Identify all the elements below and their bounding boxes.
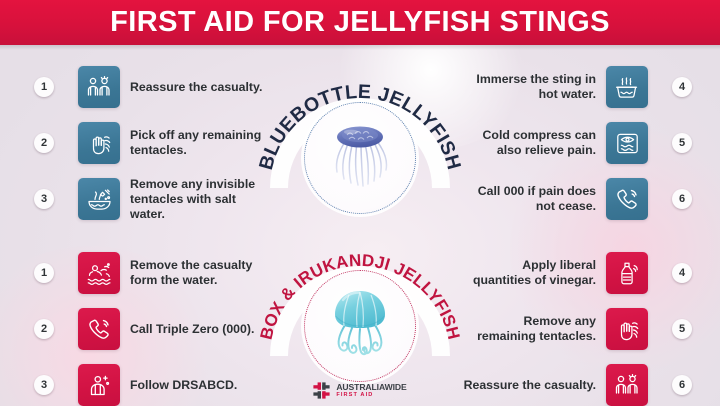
step-text: Cold compress can also relieve pain. [452,128,606,158]
step-number-badge: 6 [672,189,692,209]
step-number-badge: 1 [34,263,54,283]
step-number-badge: 4 [672,77,692,97]
step-item[interactable]: 1 Reassure the casualty. [44,61,274,113]
step-text: Remove any remaining tentacles. [452,314,606,344]
step-icon-tile [606,66,648,108]
page-title: FIRST AID FOR JELLYFISH STINGS [110,8,610,37]
step-text: Call 000 if pain does not cease. [452,184,606,214]
step-item[interactable]: 6 Call 000 if pain does not cease. [452,173,682,225]
step-item[interactable]: 1 Remove the casualty form the water. [44,247,274,299]
hot-water-bucket-icon [614,75,640,100]
box-jellyfish-icon [313,277,407,376]
step-number-badge: 5 [672,133,692,153]
step-icon-tile [78,66,120,108]
step-number-badge: 5 [672,319,692,339]
footer-logo: AUSTRALIAWIDE FIRST AID [0,382,720,399]
logo-wide: WIDE [385,382,407,392]
header-banner: FIRST AID FOR JELLYFISH STINGS [0,0,720,45]
cross-logo-icon [313,382,330,399]
step-icon-tile [606,252,648,294]
left-column: 1 Reassure the casualty. [44,61,274,406]
step-text: Apply liberal quantities of vinegar. [452,258,606,288]
step-item[interactable]: 4 Immerse the sting in hot water. [452,61,682,113]
step-icon-tile [78,308,120,350]
bluebottle-right-steps: 4 Immerse the sting in hot water. [452,61,682,225]
phone-call-icon [87,317,112,342]
bluebottle-disc [304,102,416,214]
step-icon-tile [78,178,120,220]
step-item[interactable]: 4 Apply liberal quantities of vinegar. [452,247,682,299]
bluebottle-medallion: BLUEBOTTLE JELLYFISH [262,56,458,224]
step-text: Call Triple Zero (000). [120,322,274,337]
centre-medallions: BLUEBOTTLE JELLYFISH [262,48,458,406]
step-text: Immerse the sting in hot water. [452,72,606,102]
step-number-badge: 1 [34,77,54,97]
step-text: Remove any invisible tentacles with salt… [120,177,274,222]
two-people-icon [86,75,112,99]
logo-line-2: FIRST AID [336,393,406,399]
hand-tentacles-icon [614,317,640,342]
step-item[interactable]: 2 Call Triple Zero (000). [44,303,274,355]
step-number-badge: 4 [672,263,692,283]
step-item[interactable]: 2 Pick off any remaining tentacles. [44,117,274,169]
logo-australia: AUSTRALIA [336,382,384,392]
bluebottle-jellyfish-icon [313,109,407,208]
step-icon-tile [606,122,648,164]
step-text: Remove the casualty form the water. [120,258,274,288]
step-text: Pick off any remaining tentacles. [120,128,274,158]
step-icon-tile [606,178,648,220]
step-icon-tile [606,308,648,350]
step-item[interactable]: 3 Remove any invisible tentacles with sa… [44,173,274,225]
logo-wordmark: AUSTRALIAWIDE FIRST AID [336,383,406,398]
step-item[interactable]: 5 Remove any remaining tentacles. [452,303,682,355]
step-icon-tile [78,122,120,164]
salt-water-bowl-icon [86,187,113,212]
bluebottle-left-steps: 1 Reassure the casualty. [44,61,274,225]
infographic-poster: FIRST AID FOR JELLYFISH STINGS [0,0,720,406]
step-text: Reassure the casualty. [120,80,274,95]
vinegar-bottle-icon [616,261,638,286]
phone-call-icon [615,187,640,212]
step-icon-tile [78,252,120,294]
step-number-badge: 3 [34,189,54,209]
box-jellyfish-disc [304,270,416,382]
right-column: 4 Immerse the sting in hot water. [452,61,682,406]
hand-tentacles-icon [86,131,112,156]
step-number-badge: 2 [34,133,54,153]
cold-compress-icon [615,131,640,156]
step-number-badge: 2 [34,319,54,339]
step-item[interactable]: 5 Cold compress can also relieve pain. [452,117,682,169]
rescue-from-water-icon [86,261,113,286]
logo-line-1: AUSTRALIAWIDE [336,383,406,392]
box-jellyfish-medallion: BOX & IRUKANDJI JELLYFISH [262,224,458,392]
